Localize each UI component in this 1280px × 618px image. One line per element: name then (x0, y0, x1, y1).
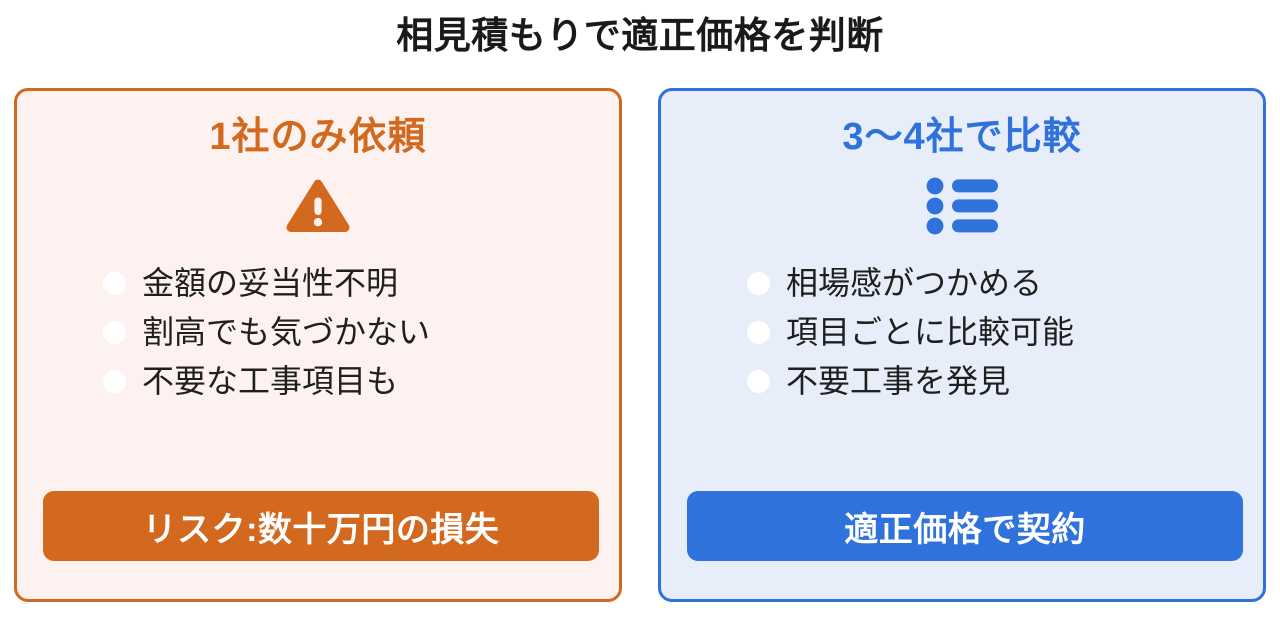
list-item-label: 割高でも気づかない (142, 312, 430, 352)
page-title: 相見積もりで適正価格を判断 (0, 14, 1280, 58)
feature-list-single-quote: 金額の妥当性不明 割高でも気づかない 不要な工事項目も (17, 259, 619, 406)
bullet-icon (103, 272, 126, 295)
card-heading-single-quote: 1社のみ依頼 (209, 117, 426, 159)
list-item-label: 金額の妥当性不明 (142, 263, 398, 303)
list-item-label: 相場感がつかめる (786, 263, 1042, 303)
list-item: 不要工事を発見 (747, 357, 1177, 406)
list-item: 項目ごとに比較可能 (747, 308, 1177, 357)
comparison-diagram: 相見積もりで適正価格を判断 1社のみ依頼 金額の妥当性不明 割高でも気 (0, 0, 1280, 618)
status-badge-risk: リスク:数十万円の損失 (43, 491, 599, 561)
list-item: 金額の妥当性不明 (103, 259, 533, 308)
warning-triangle-icon (285, 175, 351, 237)
cards-row: 1社のみ依頼 金額の妥当性不明 割高でも気づかない (14, 88, 1266, 602)
bullet-icon (747, 321, 770, 344)
list-item-label: 不要な工事項目も (142, 361, 398, 401)
bullet-icon (103, 321, 126, 344)
feature-list-multi-quote: 相場感がつかめる 項目ごとに比較可能 不要工事を発見 (661, 259, 1263, 406)
card-single-quote: 1社のみ依頼 金額の妥当性不明 割高でも気づかない (14, 88, 622, 602)
list-item: 不要な工事項目も (103, 357, 533, 406)
card-multi-quote: 3〜4社で比較 相場感がつかめる 項目ごとに比較 (658, 88, 1266, 602)
bullet-icon (747, 272, 770, 295)
list-item-label: 不要工事を発見 (786, 361, 1010, 401)
list-item-label: 項目ごとに比較可能 (786, 312, 1074, 352)
list-item: 割高でも気づかない (103, 308, 533, 357)
bullet-icon (103, 370, 126, 393)
list-icon (926, 175, 998, 237)
status-badge-result: 適正価格で契約 (687, 491, 1243, 561)
list-item: 相場感がつかめる (747, 259, 1177, 308)
card-heading-multi-quote: 3〜4社で比較 (842, 117, 1081, 159)
bullet-icon (747, 370, 770, 393)
